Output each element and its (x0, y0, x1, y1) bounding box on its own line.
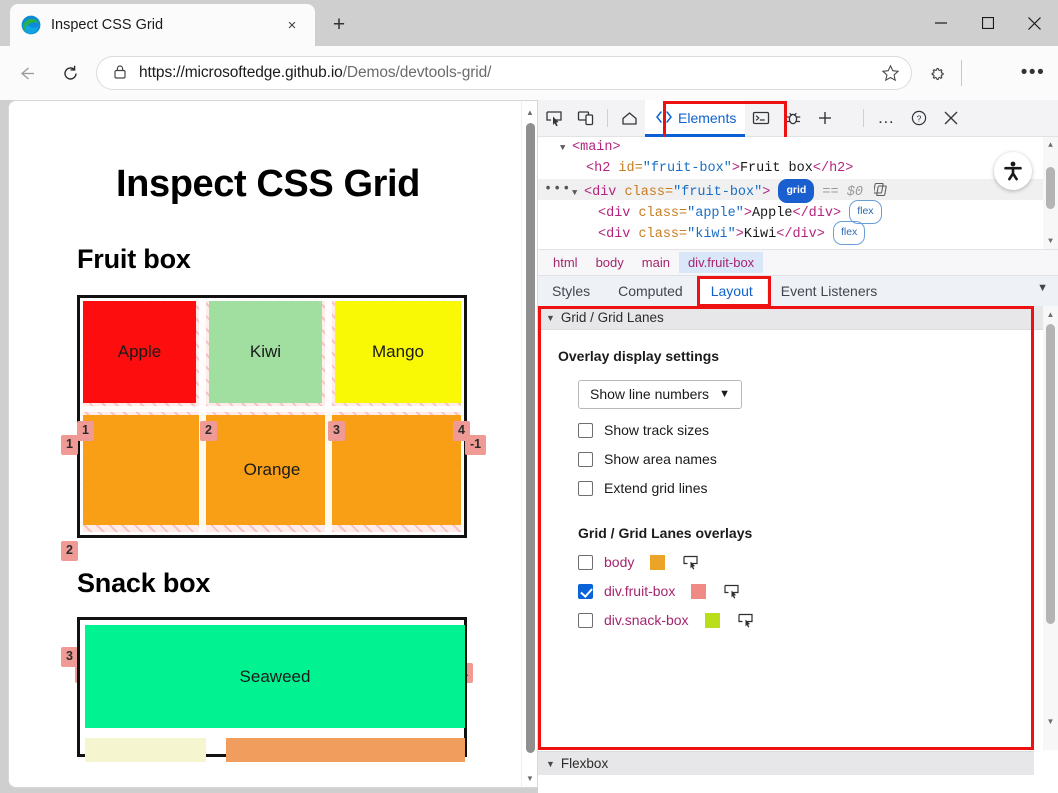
page-title: Inspect CSS Grid (9, 163, 527, 206)
dom-tag-close: > (736, 227, 744, 242)
dom-text: Fruit box (740, 161, 813, 176)
device-emulation-icon[interactable] (570, 103, 602, 133)
url-path: /Demos/devtools-grid/ (343, 64, 492, 81)
add-panel-button[interactable] (809, 103, 841, 133)
dom-row-text: <main> (572, 140, 621, 155)
browser-window: Inspect CSS Grid × + (0, 0, 1058, 793)
scroll-thumb[interactable] (1046, 167, 1055, 209)
grid-cell-orange: Orange (83, 415, 461, 525)
grid-cell-kiwi: Kiwi (209, 301, 322, 403)
breadcrumb: html body main div.fruit-box (538, 249, 1058, 275)
grid-line-col2 (199, 298, 206, 535)
devtools-close-icon[interactable] (935, 103, 967, 133)
chevron-down-icon[interactable]: ▼ (1037, 282, 1048, 294)
checkbox-box[interactable] (578, 452, 593, 467)
dom-attr-value: "fruit-box" (673, 185, 762, 200)
home-icon[interactable] (613, 103, 645, 133)
dom-attr-name: class= (639, 227, 688, 242)
dom-text: Kiwi (744, 227, 776, 242)
checkbox-box[interactable] (578, 613, 593, 628)
scroll-down-icon[interactable]: ▼ (1043, 234, 1058, 248)
dom-row[interactable]: <div class="apple">Apple</div> flex (538, 200, 1058, 221)
overlay-name: div.snack-box (604, 612, 689, 628)
dom-end-tag: </h2> (813, 161, 854, 176)
grid-line-label-left-1: 1 (61, 435, 78, 455)
overlay-color-swatch (691, 584, 706, 599)
page-viewport: Inspect CSS Grid Fruit box Apple Kiwi Ma… (8, 100, 538, 788)
toolbar-divider (961, 60, 962, 86)
url-domain: https://microsoftedge.github.io (139, 64, 343, 81)
overlay-row-div-fruit-box[interactable]: div.fruit-box (578, 583, 1058, 599)
collapse-triangle-icon[interactable]: ▼ (546, 759, 555, 769)
dom-console-ref: == $0 (822, 185, 863, 200)
scroll-up-icon[interactable]: ▲ (1043, 138, 1058, 152)
grid-line-label-top-3: 3 (328, 421, 345, 441)
fruit-box-heading: Fruit box (77, 244, 527, 275)
checkbox-box[interactable] (578, 584, 593, 599)
layout-pane: ▼ Grid / Grid Lanes Overlay display sett… (538, 306, 1058, 793)
grid-cell-snack-b (226, 738, 465, 762)
grid-cell-mango: Mango (335, 301, 461, 403)
snack-box-heading: Snack box (77, 568, 527, 599)
flexbox-section-title: Flexbox (561, 756, 608, 771)
dom-end-tag: </div> (792, 206, 841, 221)
overlays-title: Grid / Grid Lanes overlays (578, 525, 1058, 541)
grid-line-col4 (461, 298, 464, 535)
devtools-more-icon[interactable]: … (869, 103, 903, 133)
checkbox-show-area-names[interactable]: Show area names (578, 451, 1058, 467)
grid-line-col3 (325, 298, 332, 535)
dom-tag-open: <div (584, 185, 625, 200)
inspect-element-icon[interactable] (538, 103, 570, 133)
flex-badge[interactable]: flex (833, 221, 865, 245)
grid-line-label-top-1: 1 (77, 421, 94, 441)
overlay-name: div.fruit-box (604, 583, 675, 599)
accessibility-icon[interactable] (994, 152, 1032, 190)
tab-layout[interactable]: Layout (697, 276, 767, 306)
dom-row-selected[interactable]: ••• ▼<div class="fruit-box"> grid == $0 (538, 179, 1058, 200)
address-bar[interactable]: https://microsoftedge.github.io/Demos/de… (96, 56, 912, 90)
dom-tree: ▼<main> <h2 id="fruit-box">Fruit box</h2… (538, 137, 1058, 249)
toolbar-divider (607, 109, 608, 127)
grid-cell-apple: Apple (83, 301, 196, 403)
checkbox-label: Show area names (604, 451, 717, 467)
overlay-name: body (604, 554, 634, 570)
grid-section-title: Grid / Grid Lanes (561, 310, 664, 325)
dom-attr-value: "kiwi" (687, 227, 736, 242)
scroll-up-icon[interactable]: ▲ (522, 103, 538, 121)
breadcrumb-item-main[interactable]: main (633, 252, 679, 273)
code-brackets-icon (654, 110, 674, 127)
tab-elements[interactable]: Elements (645, 100, 745, 137)
dom-attr-value: "apple" (687, 206, 744, 221)
chevron-down-icon: ▼ (719, 388, 730, 400)
dom-tag-open: <h2 (586, 161, 618, 176)
browser-tab[interactable]: Inspect CSS Grid × (10, 4, 315, 46)
favorite-star-icon[interactable] (875, 58, 905, 88)
edge-logo-icon (20, 14, 42, 36)
expand-triangle-icon[interactable]: ▼ (560, 138, 572, 159)
collapse-triangle-icon[interactable]: ▼ (546, 313, 555, 323)
scroll-up-icon[interactable]: ▲ (1043, 307, 1058, 321)
extensions-icon[interactable] (920, 58, 950, 88)
new-tab-button[interactable]: + (323, 10, 355, 40)
grid-line-top (80, 298, 464, 301)
dom-tag-open: <div (598, 227, 639, 242)
line-numbers-dropdown[interactable]: Show line numbers ▼ (578, 380, 742, 409)
scroll-thumb[interactable] (526, 123, 535, 753)
close-button[interactable] (1011, 0, 1058, 46)
dom-tag-close: > (744, 206, 752, 221)
scroll-down-icon[interactable]: ▼ (522, 769, 538, 787)
checkbox-label: Show track sizes (604, 422, 709, 438)
checkbox-box[interactable] (578, 555, 593, 570)
minimize-button[interactable] (917, 0, 964, 46)
svg-text:?: ? (917, 113, 922, 123)
tab-close-icon[interactable]: × (279, 12, 305, 38)
maximize-button[interactable] (964, 0, 1011, 46)
flexbox-section-header[interactable]: ▼ Flexbox (538, 751, 1034, 775)
help-icon[interactable]: ? (903, 103, 935, 133)
dom-row-menu-icon[interactable]: ••• (544, 179, 571, 200)
console-icon[interactable] (745, 103, 777, 133)
back-icon[interactable] (8, 55, 44, 91)
dom-tag-close: > (762, 185, 770, 200)
dom-row[interactable]: <h2 id="fruit-box">Fruit box</h2> (538, 158, 1058, 179)
scroll-thumb[interactable] (1046, 324, 1055, 624)
browser-menu-icon[interactable]: ••• (1018, 58, 1048, 88)
overlay-color-swatch (705, 613, 720, 628)
checkbox-box[interactable] (578, 481, 593, 496)
grid-line-label-top-2: 2 (200, 421, 217, 441)
overlay-row-body[interactable]: body (578, 554, 1058, 570)
show-overlay-icon[interactable] (724, 584, 741, 599)
dom-row[interactable]: ▼<main> (538, 137, 1058, 158)
checkbox-box[interactable] (578, 423, 593, 438)
window-controls (917, 0, 1058, 46)
fruit-box-grid: Apple Kiwi Mango Orange (77, 295, 467, 538)
checkbox-show-track-sizes[interactable]: Show track sizes (578, 422, 1058, 438)
grid-line-label-right-neg1: -1 (465, 435, 486, 455)
breadcrumb-item-body[interactable]: body (587, 252, 633, 273)
tab-computed[interactable]: Computed (604, 276, 697, 306)
grid-section-header[interactable]: ▼ Grid / Grid Lanes (538, 306, 1058, 330)
grid-line-col1 (80, 298, 83, 535)
overlay-settings-title: Overlay display settings (558, 348, 1058, 364)
overlay-color-swatch (650, 555, 665, 570)
tab-styles[interactable]: Styles (538, 276, 604, 306)
show-overlay-icon[interactable] (683, 555, 700, 570)
tab-elements-label: Elements (678, 110, 736, 126)
page-scrollbar[interactable]: ▲ ▼ (521, 101, 537, 788)
dom-tag-close: > (732, 161, 740, 176)
dom-tag-open: <div (598, 206, 639, 221)
breadcrumb-item-div-fruit-box[interactable]: div.fruit-box (679, 252, 763, 273)
lock-icon (111, 63, 131, 83)
title-bar: Inspect CSS Grid × + (0, 0, 1058, 46)
grid-cell-snack-a (85, 738, 206, 762)
devtools-toolbar: Elements … ? (538, 100, 1058, 137)
dom-end-tag: </div> (776, 227, 825, 242)
toolbar-divider-2 (863, 109, 864, 127)
dom-attr-name: id= (618, 161, 642, 176)
breadcrumb-item-html[interactable]: html (544, 252, 587, 273)
grid-line-bottom (80, 532, 464, 535)
dom-text: Apple (752, 206, 793, 221)
show-overlay-icon[interactable] (738, 613, 755, 628)
dropdown-value: Show line numbers (590, 386, 709, 402)
scroll-down-icon[interactable]: ▼ (1043, 714, 1058, 728)
url-text: https://microsoftedge.github.io/Demos/de… (139, 64, 875, 82)
dom-row[interactable]: <div class="kiwi">Kiwi</div> flex (538, 221, 1058, 242)
grid-line-label-left-2: 2 (61, 541, 78, 561)
tab-event-listeners[interactable]: Event Listeners (767, 276, 892, 306)
panel-tab-bar: Styles Computed Layout Event Listeners ▼ (538, 275, 1058, 306)
grid-line-row2 (80, 406, 464, 412)
page-content: Inspect CSS Grid Fruit box Apple Kiwi Ma… (9, 101, 527, 788)
overlay-row-div-snack-box[interactable]: div.snack-box (578, 612, 1058, 628)
grid-cell-seaweed: Seaweed (85, 625, 465, 728)
debugger-icon[interactable] (777, 103, 809, 133)
overlay-display-settings: Overlay display settings Show line numbe… (538, 330, 1058, 628)
snack-box-grid: Seaweed (77, 617, 467, 757)
dom-tree-scrollbar[interactable]: ▲ ▼ (1043, 137, 1058, 249)
dom-attr-value: "fruit-box" (643, 161, 732, 176)
dom-attr-name: class= (625, 185, 674, 200)
layout-scrollbar[interactable]: ▲ ▼ (1043, 306, 1058, 750)
tab-title: Inspect CSS Grid (51, 17, 279, 33)
checkbox-label: Extend grid lines (604, 480, 708, 496)
dom-attr-name: class= (639, 206, 688, 221)
devtools-panel: Elements … ? (538, 100, 1058, 793)
checkbox-extend-grid-lines[interactable]: Extend grid lines (578, 480, 1058, 496)
reload-icon[interactable] (52, 55, 88, 91)
